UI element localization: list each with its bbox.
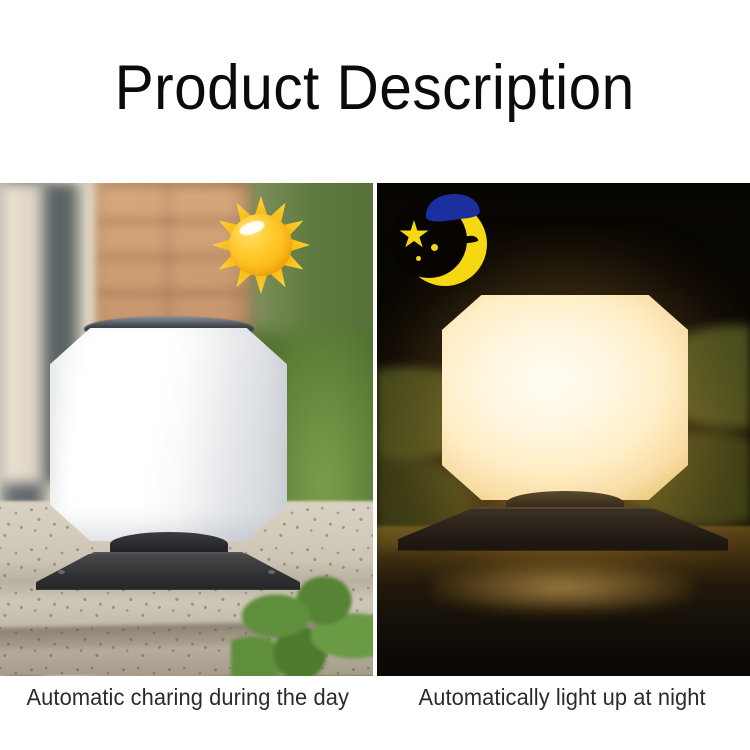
comparison-photo-band bbox=[0, 183, 750, 676]
crescent-moon-sleeping-icon bbox=[399, 192, 493, 290]
night-photo-panel bbox=[377, 183, 750, 676]
mount-screw-hole bbox=[268, 570, 275, 574]
day-photo-panel bbox=[0, 183, 373, 676]
product-description-page: Product Description bbox=[0, 0, 750, 750]
night-caption: Automatically light up at night bbox=[419, 684, 706, 711]
sparkle-dot bbox=[431, 244, 438, 251]
sun-icon bbox=[212, 198, 310, 292]
night-caption-cell: Automatically light up at night bbox=[375, 676, 750, 750]
page-title: Product Description bbox=[115, 57, 635, 120]
day-caption-cell: Automatic charing during the day bbox=[0, 676, 375, 750]
day-caption: Automatic charing during the day bbox=[26, 684, 348, 711]
page-header: Product Description bbox=[0, 0, 750, 183]
day-lamp bbox=[50, 326, 287, 541]
caption-row: Automatic charing during the day Automat… bbox=[0, 676, 750, 750]
mount-screw-hole bbox=[58, 570, 65, 574]
night-lamp bbox=[442, 295, 688, 527]
lamp-body-shading bbox=[50, 328, 287, 541]
sparkle-dot bbox=[416, 256, 421, 261]
lamp-diffuser-lit bbox=[442, 295, 688, 500]
